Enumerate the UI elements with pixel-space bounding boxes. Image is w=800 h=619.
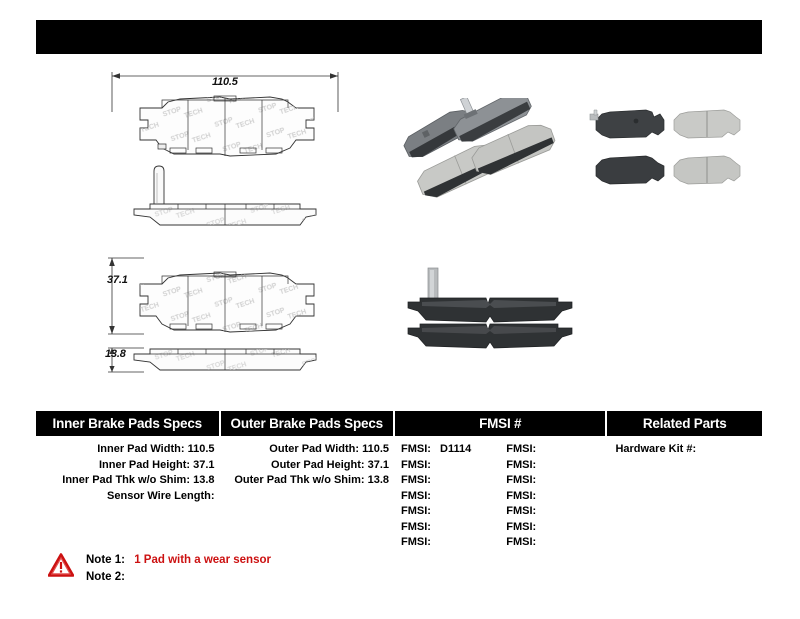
spec-label: Inner Pad Thk w/o Shim: [62,474,190,486]
column-header-fmsi: FMSI # [395,411,605,436]
column-header-outer-specs: Outer Brake Pads Specs [221,411,394,436]
related-part-label: Hardware Kit #: [615,443,696,455]
spec-value: 13.8 [368,474,389,486]
table-header-row: Inner Brake Pads Specs Outer Brake Pads … [36,411,762,436]
fmsi-label: FMSI: [506,490,536,502]
related-parts-column: Hardware Kit #: [607,442,762,551]
fmsi-row: FMSI: [401,489,500,505]
spec-row: Outer Pad Width: 110.5 [221,442,394,458]
spec-label: Outer Pad Height: [271,459,365,471]
table-body: Inner Pad Width: 110.5 Inner Pad Height:… [36,442,762,551]
drawing-pad-face-top: STOP TECH [100,70,350,190]
title-bar: 309.11140 Brake Pad [36,20,762,54]
note-lines: Note 1: 1 Pad with a wear sensor Note 2: [86,552,271,586]
spec-row: Sensor Wire Length: [36,489,219,505]
fmsi-row: FMSI: [401,520,500,536]
spec-row: Inner Pad Height: 37.1 [36,458,219,474]
fmsi-label: FMSI: [506,474,536,486]
spec-label: Inner Pad Height: [99,459,190,471]
fmsi-row: FMSI: [506,504,605,520]
dimension-label-thickness: 13.8 [105,348,126,360]
warning-triangle-icon [48,553,74,577]
notes-section: Note 1: 1 Pad with a wear sensor Note 2: [48,552,271,586]
column-header-related-parts: Related Parts [607,411,762,436]
fmsi-label: FMSI: [401,459,431,471]
photo-pads-flat [588,108,748,203]
spec-value: 37.1 [368,459,389,471]
fmsi-label: FMSI: [401,536,431,548]
fmsi-label: FMSI: [506,459,536,471]
fmsi-row: FMSI: [506,535,605,551]
part-number: 309.11140 [46,28,119,46]
column-header-inner-specs: Inner Brake Pads Specs [36,411,219,436]
spec-value: 110.5 [188,443,215,455]
fmsi-value: D1114 [440,443,471,455]
dimension-label-width: 110.5 [212,76,238,88]
fmsi-label: FMSI: [506,536,536,548]
photo-pads-edge [398,258,588,355]
outer-specs-column: Outer Pad Width: 110.5 Outer Pad Height:… [221,442,394,551]
fmsi-row: FMSI: [401,458,500,474]
note-row-1: Note 1: 1 Pad with a wear sensor [86,552,271,569]
fmsi-column: FMSI: D1114 FMSI: FMSI: FMSI: FMSI: [395,442,605,551]
fmsi-row: FMSI: [506,473,605,489]
drawing-pad-edge-upper [100,195,350,245]
fmsi-label: FMSI: [506,521,536,533]
spec-label: Inner Pad Width: [97,443,184,455]
spec-value: 110.5 [362,443,389,455]
photo-pads-angled [398,98,558,213]
fmsi-label: FMSI: [401,474,431,486]
fmsi-row: FMSI: [506,442,605,458]
spec-row: Outer Pad Thk w/o Shim: 13.8 [221,473,394,489]
inner-specs-column: Inner Pad Width: 110.5 Inner Pad Height:… [36,442,219,551]
fmsi-subcolumn-right: FMSI: FMSI: FMSI: FMSI: FMSI: [500,442,605,551]
spec-label: Sensor Wire Length: [107,490,214,502]
spec-label: Outer Pad Width: [269,443,359,455]
note-value: 1 Pad with a wear sensor [134,554,271,566]
fmsi-label: FMSI: [401,443,431,455]
fmsi-row: FMSI: [401,504,500,520]
fmsi-row: FMSI: [506,520,605,536]
fmsi-label: FMSI: [401,490,431,502]
spec-row: Outer Pad Height: 37.1 [221,458,394,474]
spec-label: Outer Pad Thk w/o Shim: [234,474,364,486]
fmsi-row: FMSI: [401,473,500,489]
spec-row: Inner Pad Width: 110.5 [36,442,219,458]
drawing-pad-edge-lower [100,338,350,389]
specifications-table: Inner Brake Pads Specs Outer Brake Pads … [36,411,762,551]
note-row-2: Note 2: [86,569,271,586]
fmsi-label: FMSI: [401,505,431,517]
fmsi-label: FMSI: [506,443,536,455]
related-part-row: Hardware Kit #: [607,442,762,458]
fmsi-row: FMSI: [506,458,605,474]
spec-row: Inner Pad Thk w/o Shim: 13.8 [36,473,219,489]
fmsi-label: FMSI: [506,505,536,517]
fmsi-subcolumn-left: FMSI: D1114 FMSI: FMSI: FMSI: FMSI: [395,442,500,551]
fmsi-label: FMSI: [401,521,431,533]
figures-area: STOP TECH [0,60,800,390]
note-label: Note 1: [86,552,125,569]
spec-value: 13.8 [193,474,214,486]
product-type-label: Brake Pad [677,28,752,46]
fmsi-row: FMSI: D1114 [401,442,500,458]
note-label: Note 2: [86,569,125,586]
fmsi-row: FMSI: [506,489,605,505]
spec-value: 37.1 [193,459,214,471]
fmsi-row: FMSI: [401,535,500,551]
dimension-label-height: 37.1 [107,274,128,286]
